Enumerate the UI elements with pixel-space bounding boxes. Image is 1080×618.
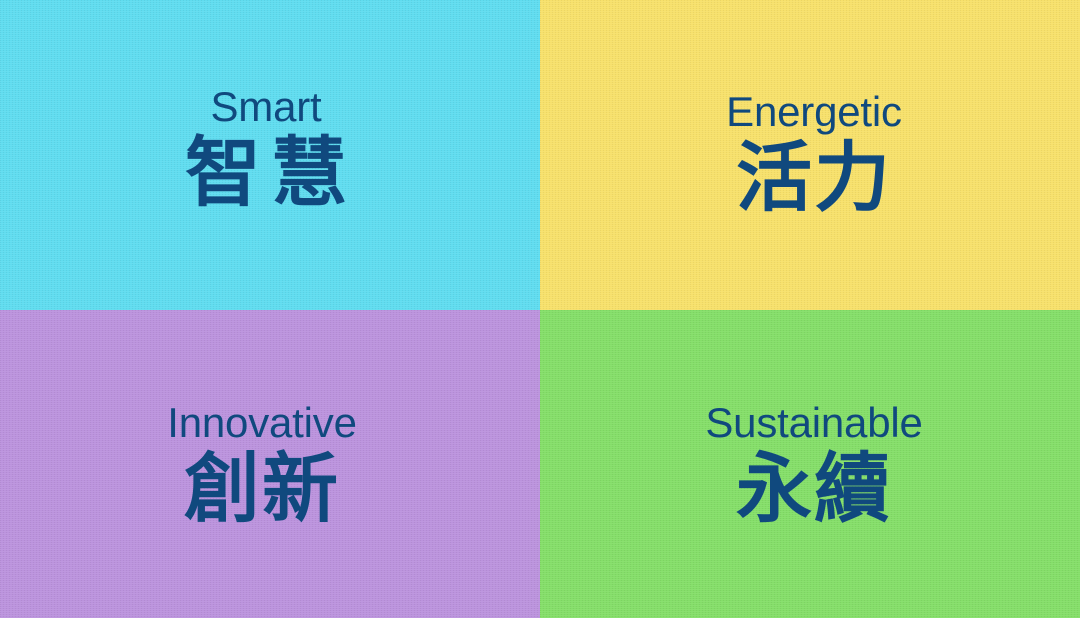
quadrant-energetic: Energetic 活力 — [540, 0, 1080, 310]
quadrant-sustainable-content: Sustainable 永續 — [705, 402, 922, 529]
quadrant-innovative-content: Innovative 創新 — [167, 402, 356, 529]
quadrant-sustainable: Sustainable 永續 — [540, 310, 1080, 618]
quadrant-sustainable-label-en: Sustainable — [705, 402, 922, 445]
quadrant-sustainable-label-zh: 永續 — [736, 452, 892, 528]
quadrant-innovative-label-en: Innovative — [167, 402, 356, 445]
quadrant-smart-label-zh: 智慧 — [175, 136, 357, 212]
quadrant-smart-content: Smart 智慧 — [175, 86, 357, 213]
quadrant-smart-label-en: Smart — [210, 86, 321, 129]
quadrant-innovative-label-zh: 創新 — [184, 452, 340, 528]
quadrant-energetic-label-en: Energetic — [726, 91, 902, 134]
quadrant-energetic-label-zh: 活力 — [736, 141, 892, 217]
brand-values-grid: Smart 智慧 Energetic 活力 Innovative 創新 Sust… — [0, 0, 1080, 618]
quadrant-innovative: Innovative 創新 — [0, 310, 540, 618]
quadrant-energetic-content: Energetic 活力 — [726, 91, 902, 218]
quadrant-smart: Smart 智慧 — [0, 0, 540, 310]
